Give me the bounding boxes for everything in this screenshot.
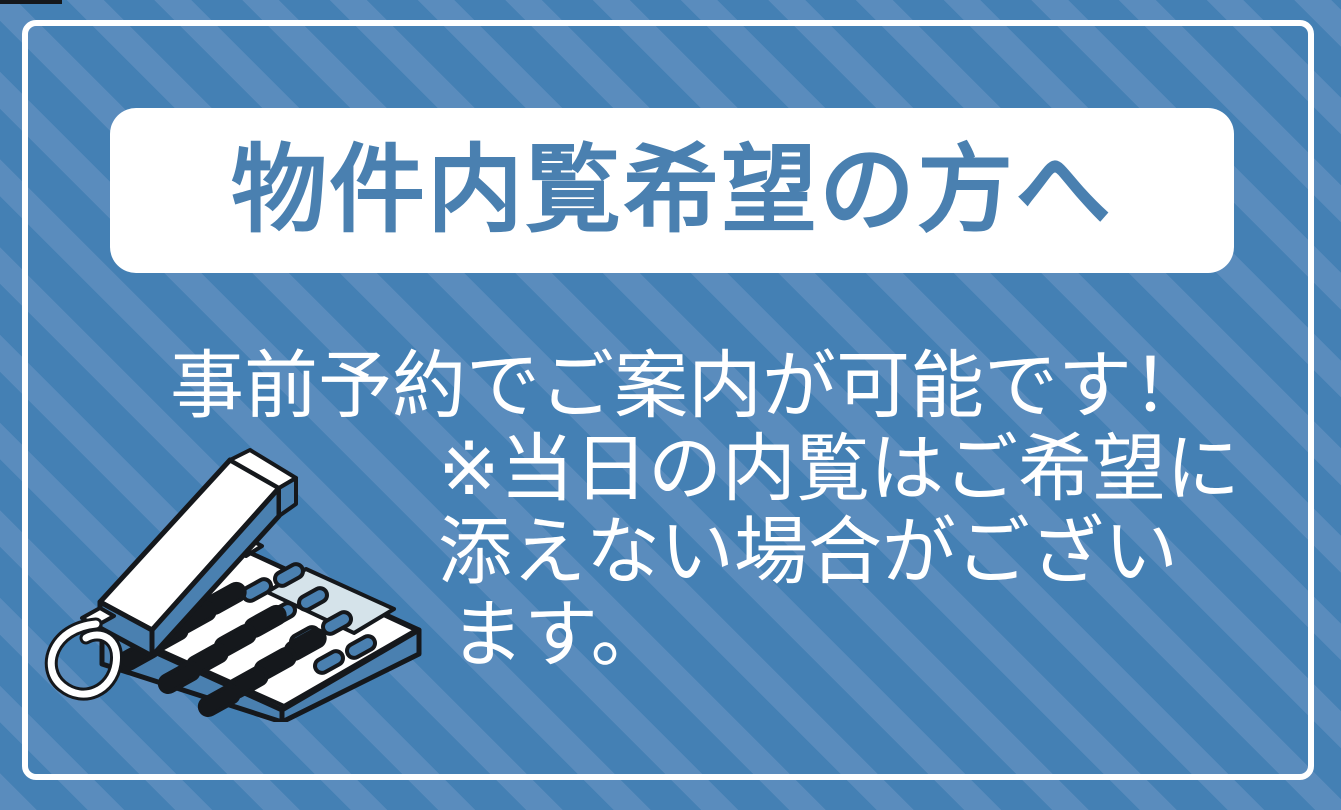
body-line-1: 事前予約でご案内が可能です！ bbox=[128, 345, 1248, 428]
promotional-banner: 物件内覧希望の方へ 事前予約でご案内が可能です！ ※当日の内覧はご希望に 添えな… bbox=[0, 0, 1341, 810]
corner-tick-mark bbox=[0, 0, 62, 4]
telephone-icon bbox=[34, 432, 434, 722]
headline-panel: 物件内覧希望の方へ bbox=[110, 108, 1234, 273]
page-title: 物件内覧希望の方へ bbox=[231, 143, 1113, 239]
